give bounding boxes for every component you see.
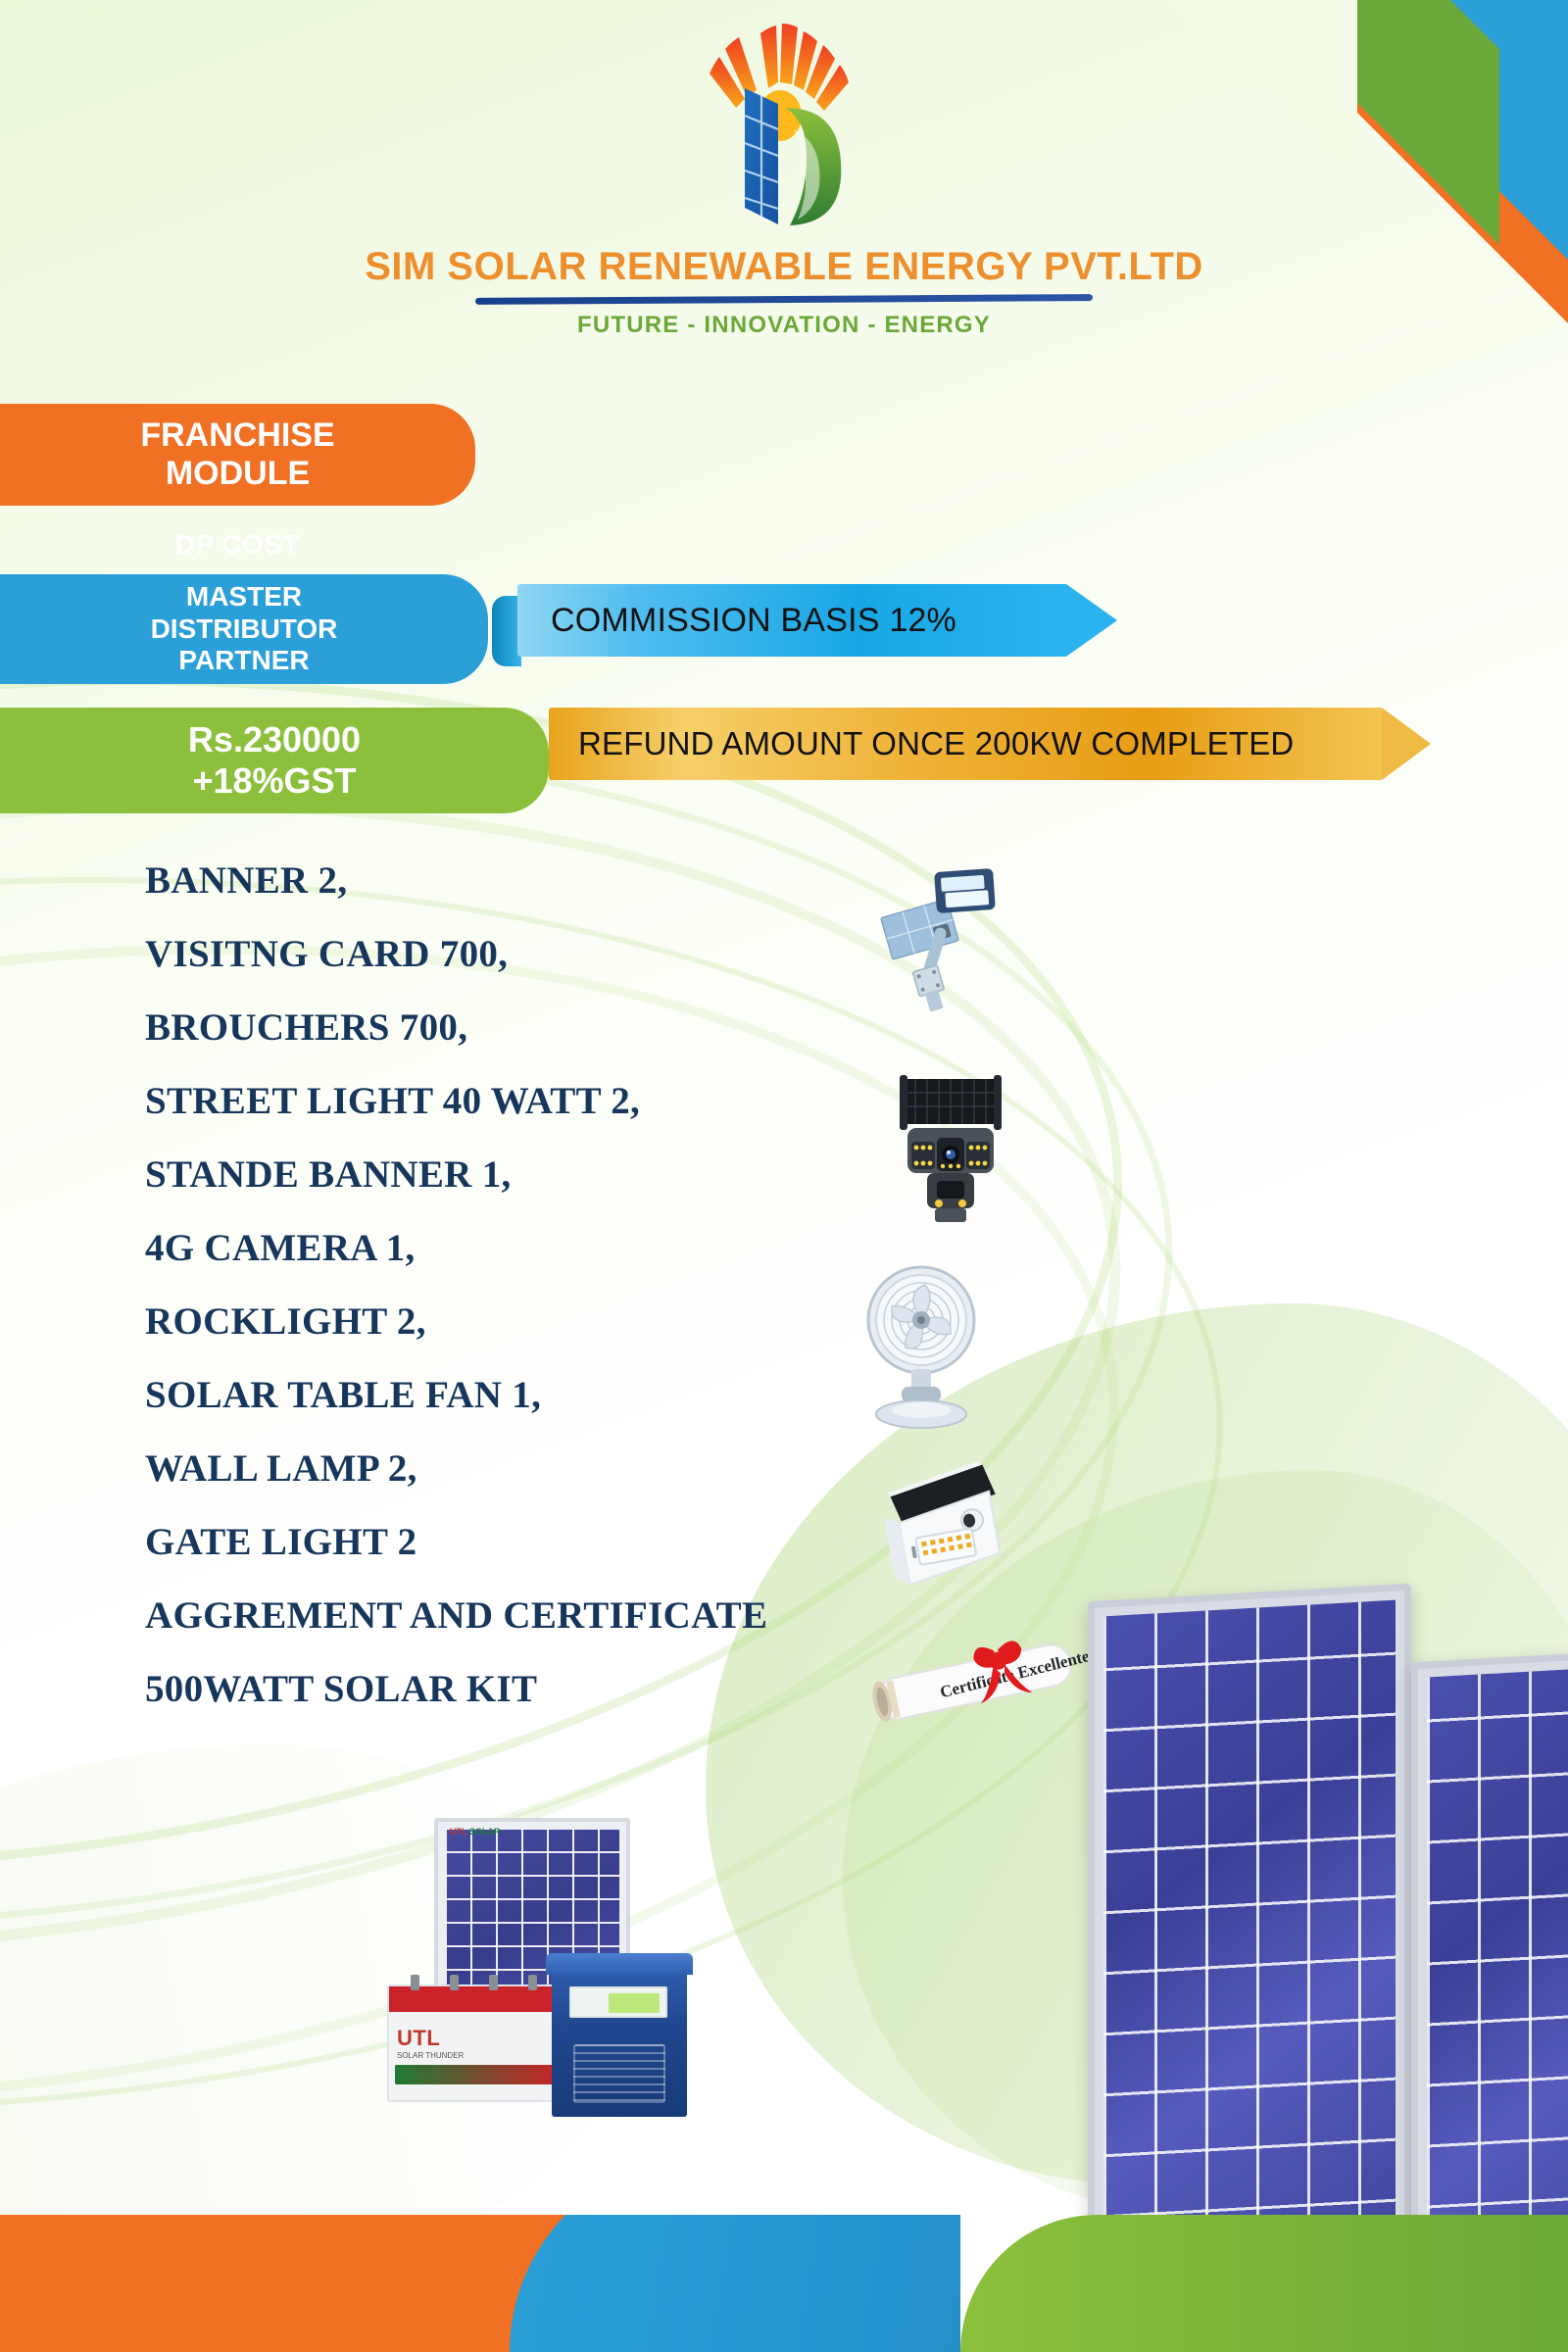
dp-cost-label: DP COST — [0, 529, 475, 561]
brand-header: SIM SOLAR RENEWABLE ENERGY PVT.LTD FUTUR… — [0, 14, 1568, 339]
master-distributor-partner-badge[interactable]: MASTER DISTRIBUTOR PARTNER — [0, 574, 488, 684]
list-item: AGGREMENT AND CERTIFICATE — [145, 1593, 890, 1638]
refund-ribbon: REFUND AMOUNT ONCE 200KW COMPLETED — [549, 708, 1382, 780]
brand-name: SIM SOLAR RENEWABLE ENERGY PVT.LTD — [0, 245, 1568, 289]
footer-bar — [0, 2215, 1568, 2352]
solar-table-fan-image-icon — [843, 1259, 1000, 1436]
master-label-line3: PARTNER — [178, 645, 309, 676]
list-item: STANDE BANNER 1, — [145, 1152, 890, 1197]
price-badge[interactable]: Rs.230000 +18%GST — [0, 708, 549, 813]
list-item: GATE LIGHT 2 — [145, 1520, 890, 1564]
franchise-items-list: BANNER 2, VISITNG CARD 700, BROUCHERS 70… — [145, 858, 890, 1740]
list-item: ROCKLIGHT 2, — [145, 1299, 890, 1344]
footer-green-block — [960, 2215, 1568, 2352]
list-item: 500WATT SOLAR KIT — [145, 1667, 890, 1711]
commission-ribbon-text: COMMISSION BASIS 12% — [517, 584, 1066, 657]
solar-kit-image: UTL SOLAR UTL SOLAR THUNDER — [387, 1818, 710, 2122]
list-item: VISITNG CARD 700, — [145, 932, 890, 976]
franchise-label-line1: FRANCHISE — [140, 416, 334, 455]
price-gst: +18%GST — [192, 760, 356, 802]
list-item: STREET LIGHT 40 WATT 2, — [145, 1079, 890, 1123]
master-label-line1: MASTER — [186, 581, 302, 612]
list-item: 4G CAMERA 1, — [145, 1226, 890, 1270]
price-amount: Rs.230000 — [188, 719, 361, 760]
solar-wall-lamp-image-icon — [872, 1460, 1019, 1607]
solar-street-light-image-icon — [872, 862, 1029, 1019]
master-label-line2: DISTRIBUTOR — [151, 613, 338, 645]
certificate-scroll-image-icon: Certificate Excellente — [862, 1622, 1088, 1739]
flyer-page: SIM SOLAR RENEWABLE ENERGY PVT.LTD FUTUR… — [0, 0, 1568, 2352]
commission-ribbon: COMMISSION BASIS 12% — [517, 584, 1066, 657]
refund-ribbon-text: REFUND AMOUNT ONCE 200KW COMPLETED — [549, 708, 1382, 780]
list-item: BROUCHERS 700, — [145, 1005, 890, 1050]
battery-brand: UTL — [397, 2026, 440, 2050]
kit-panel-brand: UTL — [450, 1827, 466, 1837]
ribbon-arrow-icon — [1066, 584, 1117, 657]
battery-sub: SOLAR THUNDER — [397, 2051, 559, 2060]
list-item: SOLAR TABLE FAN 1, — [145, 1373, 890, 1417]
list-item: WALL LAMP 2, — [145, 1446, 890, 1491]
solar-4g-camera-image-icon — [882, 1073, 1019, 1230]
kit-battery: UTL SOLAR THUNDER — [387, 1984, 568, 2102]
solar-panel-sun-leaf-logo-icon — [676, 14, 892, 239]
franchise-module-badge[interactable]: FRANCHISE MODULE — [0, 404, 475, 506]
brand-divider — [475, 294, 1093, 305]
brand-tagline: FUTURE - INNOVATION - ENERGY — [0, 312, 1568, 339]
kit-panel-brand-sub: SOLAR — [469, 1827, 501, 1837]
franchise-label-line2: MODULE — [166, 455, 310, 493]
list-item: BANNER 2, — [145, 858, 890, 903]
ribbon-arrow-icon — [1382, 708, 1431, 780]
kit-inverter — [552, 1965, 687, 2117]
